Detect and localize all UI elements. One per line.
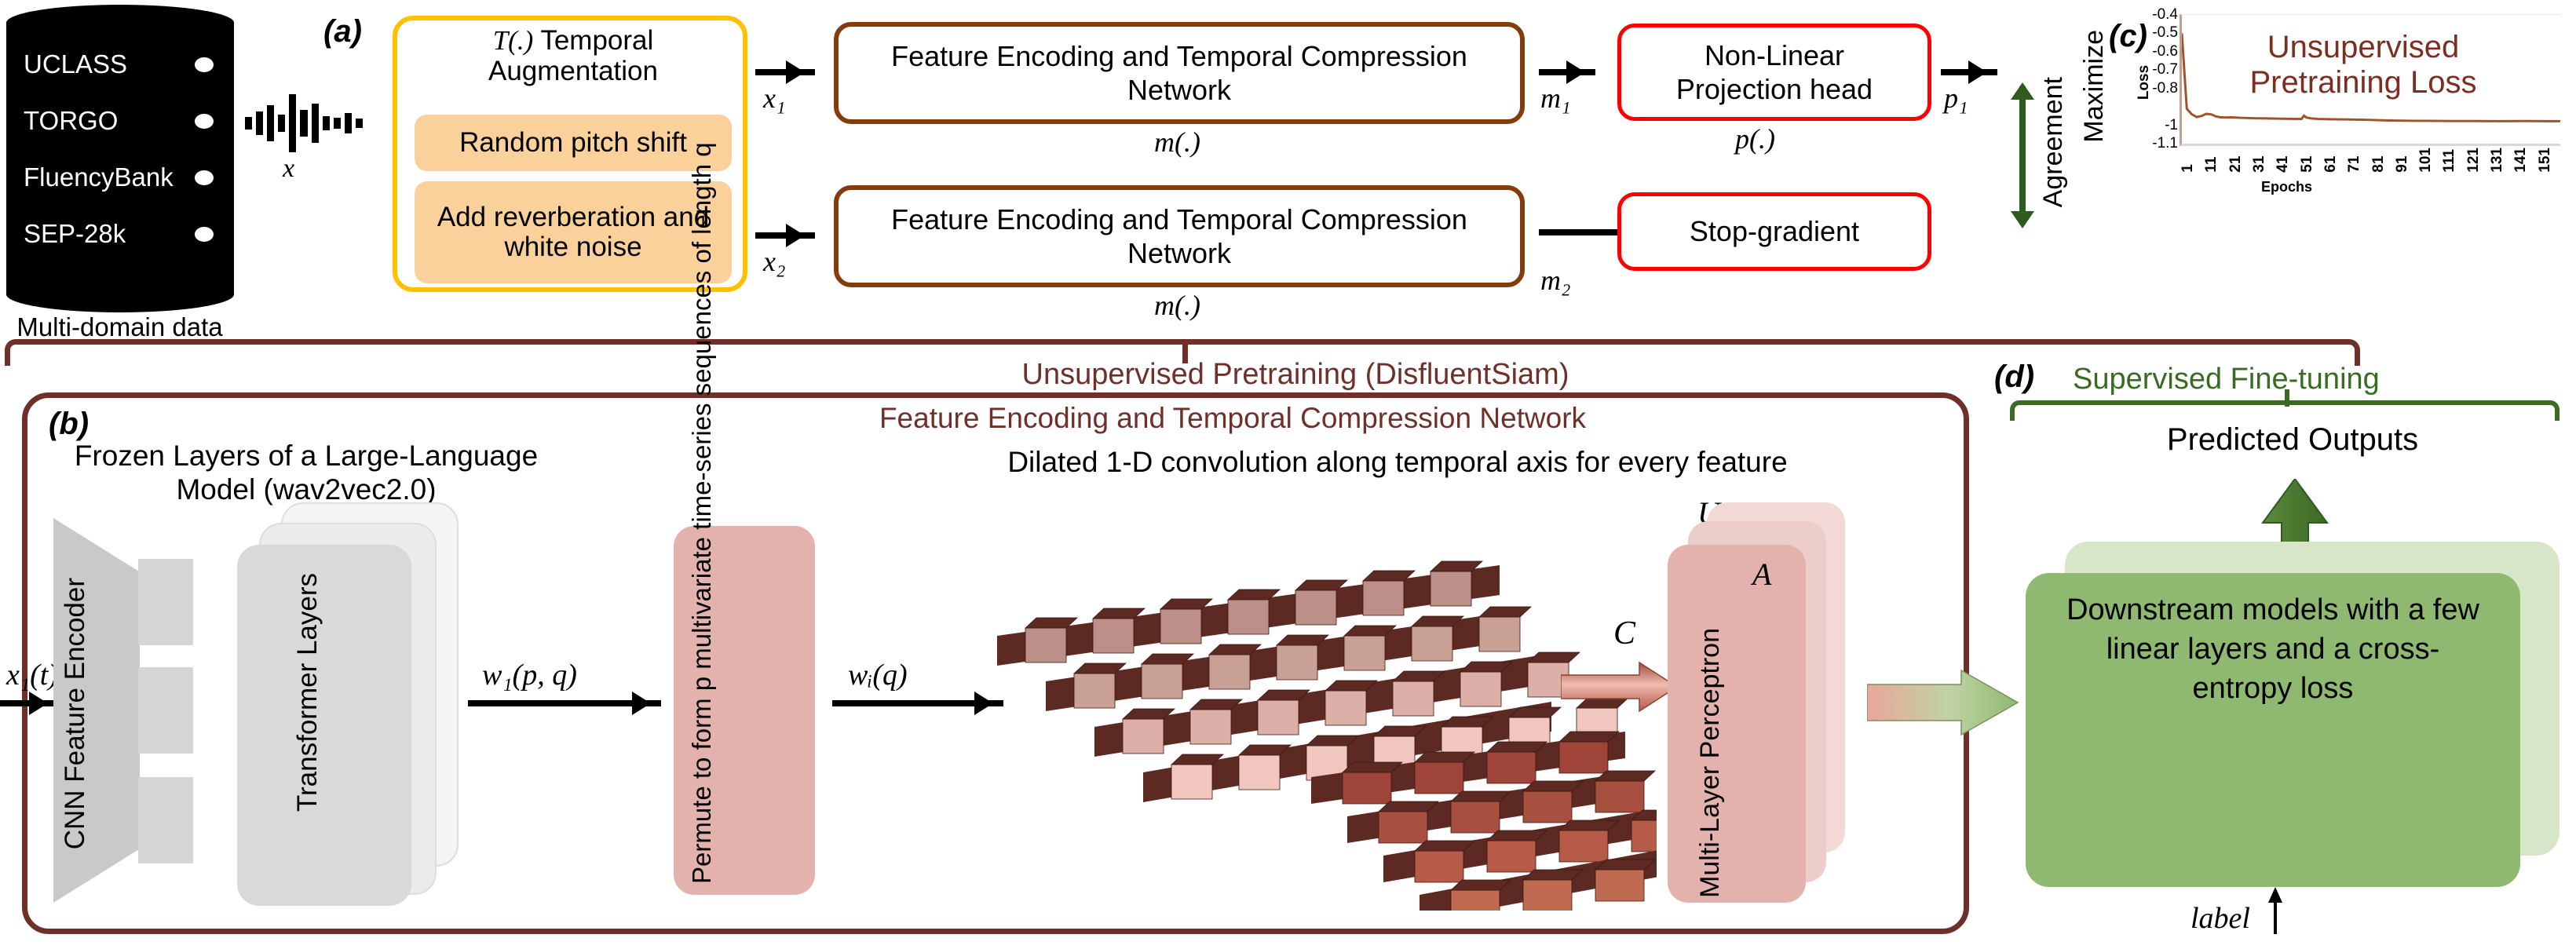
dataset-name: UCLASS [24,49,127,79]
dataset-name: SEP-28k [24,219,126,249]
frozen-layers-title: Frozen Layers of a Large-Language Model … [31,440,581,506]
maximize-label: Maximize [2079,30,2110,143]
stop-gradient-box: Stop-gradient [1617,192,1931,271]
list-item: TORGO [6,93,234,149]
label-arrow-svg [2267,887,2283,934]
list-item: UCLASS [6,36,234,93]
m2-label: m₂ [1540,264,1571,297]
dataset-list: UCLASS TORGO FluencyBank SEP-28k [6,36,234,262]
bullet-dot-icon [195,114,214,129]
x-tick: 141 [2512,148,2536,173]
label-arrow [2267,887,2283,934]
non-linear-projection-head-box: Non-Linear Projection head [1617,24,1931,121]
brace-nub [2285,389,2289,407]
arrow-x2 [755,232,815,239]
permute-label: Permute to form p multivariate time-seri… [686,538,718,884]
encoder-label: Feature Encoding and Temporal Compressio… [881,203,1478,270]
arrow-m1 [1539,69,1595,75]
dataset-name: TORGO [24,106,118,136]
encoder-fn-1: m(.) [1154,126,1200,159]
mlp-label: Multi-Layer Perceptron [1694,628,1726,898]
y-tick: -0.7 [2152,61,2178,78]
augmentation-chip-reverb-noise: Add reverberation and white noise [415,181,732,283]
panel-a-tag: (a) [323,14,362,49]
multi-domain-database: UCLASS TORGO FluencyBank SEP-28k [6,5,234,312]
cnn-tab [138,777,193,863]
cylinder-bottom [6,276,234,312]
label-text: label [2191,901,2250,936]
bullet-dot-icon [195,57,214,72]
augmentation-title: T(.) Temporal Augmentation [408,25,738,86]
mlp-sheet-front [1668,545,1806,903]
y-tick: -0.6 [2152,43,2178,60]
cnn-feature-encoder: CNN Feature Encoder [53,518,195,903]
signal-x-label: x [283,154,294,184]
projection-fn: p(.) [1735,122,1775,155]
arrow-c [1561,661,1679,713]
x2-label: x₂ [763,245,786,278]
transition-arrow-svg [1867,667,2021,738]
x-tick: 31 [2251,148,2275,173]
panel-d-title: Supervised Fine-tuning [2073,363,2380,396]
database-caption: Multi-domain data [0,312,239,342]
feature-encoding-network-box-1: Feature Encoding and Temporal Compressio… [834,22,1525,124]
w1-label: w₁(p, q) [482,658,577,692]
transformer-sheet-front [237,545,411,906]
predicted-outputs-label: Predicted Outputs [2057,422,2528,458]
cnn-tab [138,559,193,645]
arrow-w1 [468,700,661,706]
transformer-layers-label: Transformer Layers [292,573,323,812]
y-tick: -1 [2165,117,2178,134]
panel-b-title: Feature Encoding and Temporal Compressio… [801,402,1664,435]
cnn-feature-encoder-label: CNN Feature Encoder [60,578,91,849]
x-tick: 121 [2465,148,2489,173]
dilated-conv-blocks [974,518,1657,911]
x-tick: 151 [2537,148,2560,173]
fine-tuning-brace [2010,400,2560,421]
augmentation-chip-pitch-shift: Random pitch shift [415,115,732,171]
permute-box: Permute to form p multivariate time-seri… [674,526,815,895]
bullet-dot-icon [195,227,214,242]
audio-waveform-icon [245,94,363,152]
agreement-arrow-up [2019,86,2026,157]
stop-gradient-label: Stop-gradient [1690,214,1859,248]
dataset-name: FluencyBank [24,162,174,192]
c-symbol: C [1613,615,1635,652]
x-tick: 101 [2417,148,2441,173]
y-tick: -0.4 [2152,6,2178,24]
x-tick: 81 [2370,148,2394,173]
downstream-label: Downstream models with a few linear laye… [2057,590,2489,708]
chart-title: Unsupervised Pretraining Loss [2198,30,2528,100]
x-tick: 91 [2394,148,2417,173]
y-tick: -0.5 [2152,24,2178,42]
panel-b-tag: (b) [49,407,89,442]
y-tick: -0.8 [2152,80,2178,97]
arrow-p1 [1941,69,1997,75]
arrow-mlp-to-downstream [1867,667,2021,738]
projection-label: Non-Linear Projection head [1641,38,1908,106]
bullet-dot-icon [195,170,214,185]
encoder-fn-2: m(.) [1154,289,1200,322]
mlp-a-symbol: A [1752,556,1771,593]
chart-x-ticks: 1 11 21 31 41 51 61 71 81 91 101 111 121… [2180,148,2560,173]
augmentation-fn: T(.) [493,25,534,56]
conv-title: Dilated 1-D convolution along temporal a… [934,446,1861,479]
x1t-label: x₁(t) [6,658,58,692]
panel-d-tag: (d) [1994,360,2034,395]
agreement-arrow-down [2019,155,2026,224]
arrow-input-x1t [0,700,58,706]
p1-label: p₁ [1944,82,1968,115]
x1-label: x₁ [763,82,786,115]
x-tick: 1 [2180,148,2203,173]
x-tick: 71 [2346,148,2370,173]
pretraining-caption: Unsupervised Pretraining (DisfluentSiam) [942,358,1649,392]
chart-x-axis-title: Epochs [2261,179,2312,195]
cnn-tab [138,667,193,754]
feature-encoding-network-box-2: Feature Encoding and Temporal Compressio… [834,185,1525,287]
encoder-label: Feature Encoding and Temporal Compressio… [881,39,1478,107]
y-tick: -1.1 [2152,135,2178,152]
downstream-models-box: Downstream models with a few linear laye… [2026,542,2560,887]
list-item: SEP-28k [6,206,234,262]
transformer-layers-stack: Transformer Layers [236,502,455,903]
multi-layer-perceptron: A Multi-Layer Perceptron [1664,502,1845,903]
conv-blocks-svg [974,518,1657,911]
x-tick: 11 [2203,148,2227,173]
x-tick: 111 [2441,148,2465,173]
x-tick: 41 [2275,148,2298,173]
c-arrow-svg [1561,661,1679,713]
x-tick: 61 [2322,148,2346,173]
arrow-x1 [755,69,815,75]
chart-y-axis-title: Loss [2136,65,2153,100]
list-item: FluencyBank [6,149,234,206]
m1-label: m₁ [1540,82,1571,115]
x-tick: 21 [2227,148,2251,173]
agreement-label: Agreement [2038,77,2069,207]
wi-label: wᵢ(q) [848,658,908,692]
x-tick: 51 [2299,148,2322,173]
x-tick: 131 [2489,148,2512,173]
